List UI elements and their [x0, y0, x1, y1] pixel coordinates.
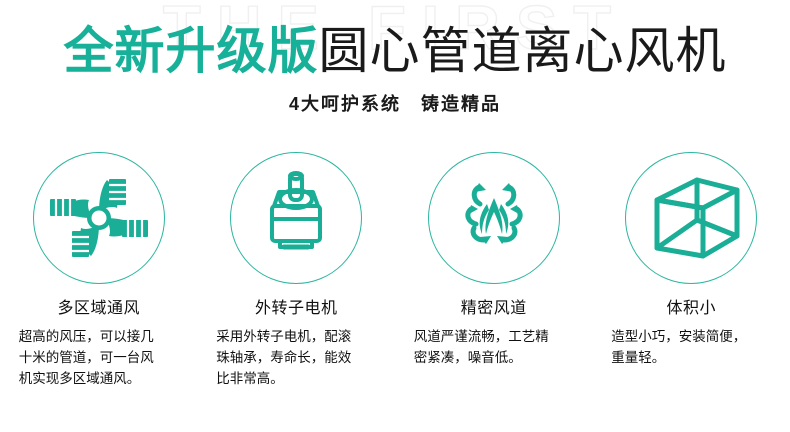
description-line: 珠轴承，寿命长，能效 [216, 348, 376, 369]
feature-list: 多区域通风 超高的风压，可以接几 十米的管道，可一台风 机实现多区域通风。 [0, 152, 790, 390]
feature-title: 外转子电机 [255, 294, 338, 318]
headline-plain-text: 圆心管道离心风机 [319, 23, 727, 79]
feature-item-compact-size: 体积小 造型小巧，安装简便， 重量轻。 [593, 152, 790, 390]
feature-item-multi-zone-ventilation: 多区域通风 超高的风压，可以接几 十米的管道，可一台风 机实现多区域通风。 [0, 152, 198, 390]
promotional-poster: THE FIRST 全新升级版圆心管道离心风机 4大呵护系统 铸造精品 [0, 0, 790, 432]
description-line: 重量轻。 [611, 348, 771, 369]
cube-icon [641, 168, 741, 268]
description-line: 密紧凑，噪音低。 [414, 348, 574, 369]
description-line: 超高的风压，可以接几 [19, 327, 179, 348]
feature-title: 多区域通风 [57, 294, 140, 318]
icon-ring [33, 152, 165, 284]
fan-impeller-icon [49, 168, 149, 268]
description-line: 机实现多区域通风。 [19, 369, 179, 390]
headline-accent-text: 全新升级版 [64, 23, 319, 79]
feature-description: 造型小巧，安装简便， 重量轻。 [611, 327, 771, 369]
feature-description: 风道严谨流畅，工艺精 密紧凑，噪音低。 [414, 327, 574, 369]
page-title: 全新升级版圆心管道离心风机 [0, 26, 790, 76]
feature-description: 超高的风压，可以接几 十米的管道，可一台风 机实现多区域通风。 [19, 327, 179, 390]
feature-item-precision-air-duct: 精密风道 风道严谨流畅，工艺精 密紧凑，噪音低。 [395, 152, 593, 390]
feature-title: 体积小 [666, 294, 716, 318]
poster-header: THE FIRST 全新升级版圆心管道离心风机 4大呵护系统 铸造精品 [0, 0, 790, 130]
motor-icon [246, 168, 346, 268]
airflow-icon [444, 168, 544, 268]
icon-ring [625, 152, 757, 284]
description-line: 造型小巧，安装简便， [611, 327, 771, 348]
description-line: 采用外转子电机，配滚 [216, 327, 376, 348]
icon-ring [230, 152, 362, 284]
feature-description: 采用外转子电机，配滚 珠轴承，寿命长，能效 比非常高。 [216, 327, 376, 390]
description-line: 比非常高。 [216, 369, 376, 390]
feature-item-external-rotor-motor: 外转子电机 采用外转子电机，配滚 珠轴承，寿命长，能效 比非常高。 [198, 152, 396, 390]
description-line: 风道严谨流畅，工艺精 [414, 327, 574, 348]
subtitle-text: 4大呵护系统 铸造精品 [0, 90, 790, 116]
description-line: 十米的管道，可一台风 [19, 348, 179, 369]
feature-title: 精密风道 [461, 294, 527, 318]
icon-ring [428, 152, 560, 284]
